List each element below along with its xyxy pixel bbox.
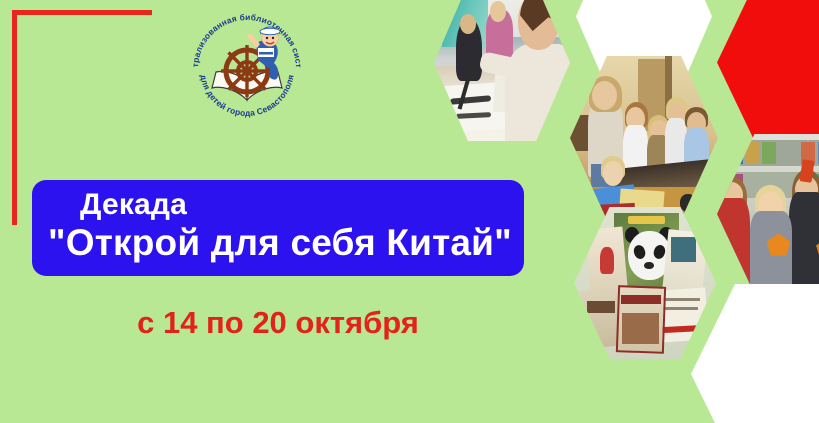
photo-panda-scene <box>574 207 716 359</box>
hex-photo-guzheng <box>570 56 718 220</box>
hex-red-top <box>717 0 819 141</box>
photo-guzheng-scene <box>570 56 718 220</box>
hex-photo-panda <box>574 207 716 359</box>
photo-origami-scene <box>717 134 819 294</box>
hex-white-bottom <box>691 284 819 423</box>
photo-calligraphy-scene <box>434 0 570 141</box>
hex-photo-calligraphy <box>434 0 570 141</box>
hexagon-collage <box>420 0 819 423</box>
library-logo: Централизованная библиотечная система дл… <box>186 8 308 130</box>
hex-photo-origami <box>717 134 819 294</box>
poster-canvas: Централизованная библиотечная система дл… <box>0 0 819 423</box>
